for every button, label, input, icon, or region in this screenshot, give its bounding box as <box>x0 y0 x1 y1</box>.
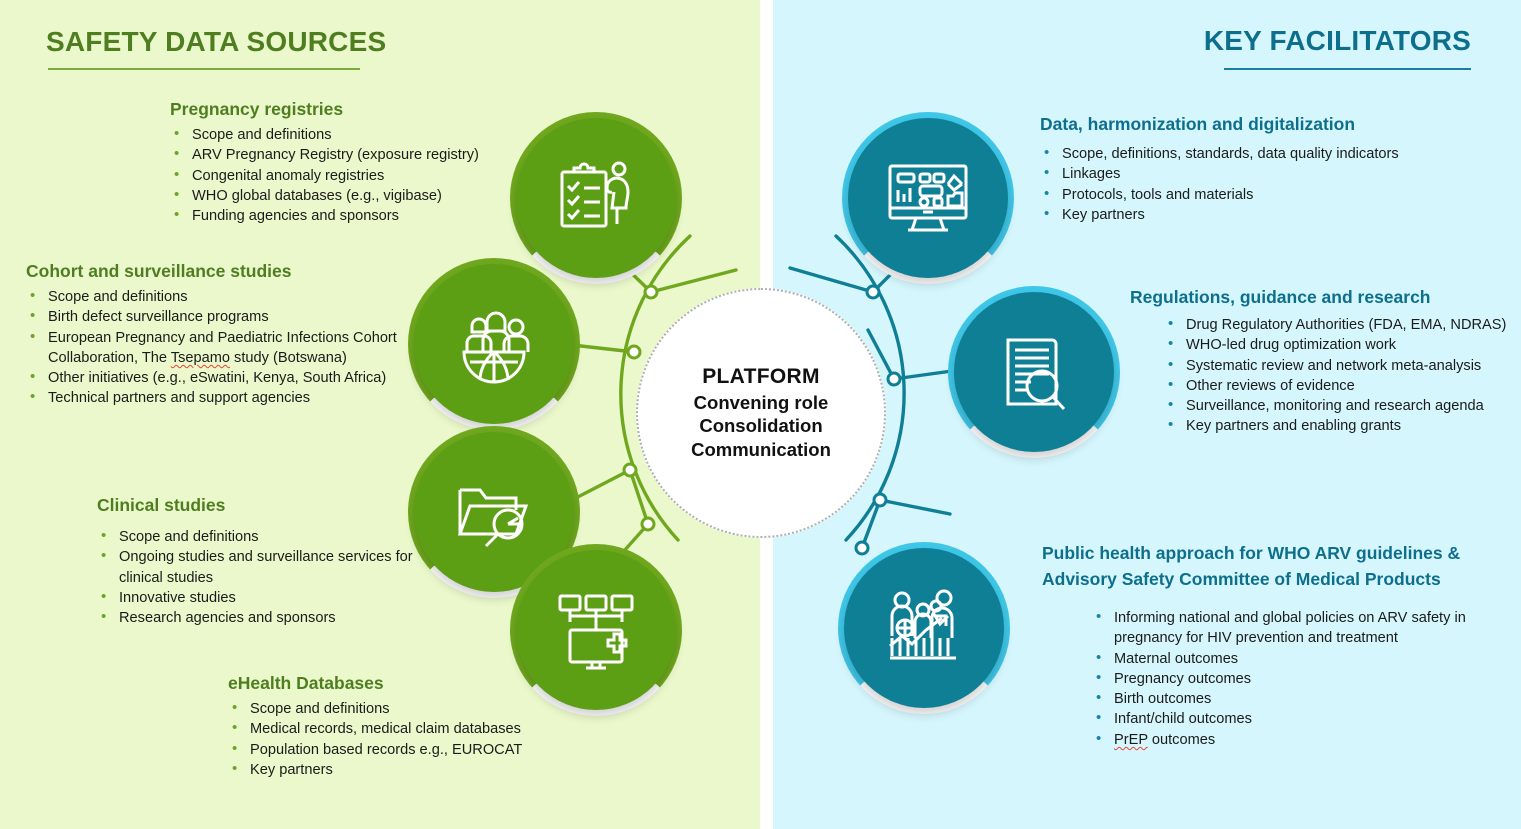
folder-magnifier-icon <box>446 464 542 560</box>
people-group-globe-icon <box>446 296 542 392</box>
regulations-research-icon-bubble <box>954 292 1114 452</box>
bubble-body <box>516 118 676 278</box>
family-growth-bar-chart-icon <box>876 580 972 676</box>
document-magnifier-icon <box>986 324 1082 420</box>
dashboard-monitor-charts-icon <box>880 150 976 246</box>
hub-line-2: Consolidation <box>699 414 822 438</box>
hub-line-3: Communication <box>691 438 831 462</box>
ehealth-databases-icon-bubble <box>516 550 676 710</box>
bubble-body <box>414 264 574 424</box>
bubble-body <box>954 292 1114 452</box>
public-health-approach-icon-bubble <box>844 548 1004 708</box>
pregnancy-registry-icon-bubble <box>516 118 676 278</box>
hub-title: PLATFORM <box>702 365 820 389</box>
bubble-body <box>848 118 1008 278</box>
infographic-canvas: SAFETY DATA SOURCES KEY FACILITATORS <box>0 0 1521 829</box>
platform-hub: PLATFORM Convening role Consolidation Co… <box>636 288 886 538</box>
clipboard-checklist-pregnant-woman-icon <box>548 150 644 246</box>
bubble-body <box>516 550 676 710</box>
bubble-body <box>844 548 1004 708</box>
cohort-studies-icon-bubble <box>414 264 574 424</box>
networked-monitors-medical-cross-icon <box>548 582 644 678</box>
data-harmonization-icon-bubble <box>848 118 1008 278</box>
hub-line-1: Convening role <box>694 391 829 415</box>
